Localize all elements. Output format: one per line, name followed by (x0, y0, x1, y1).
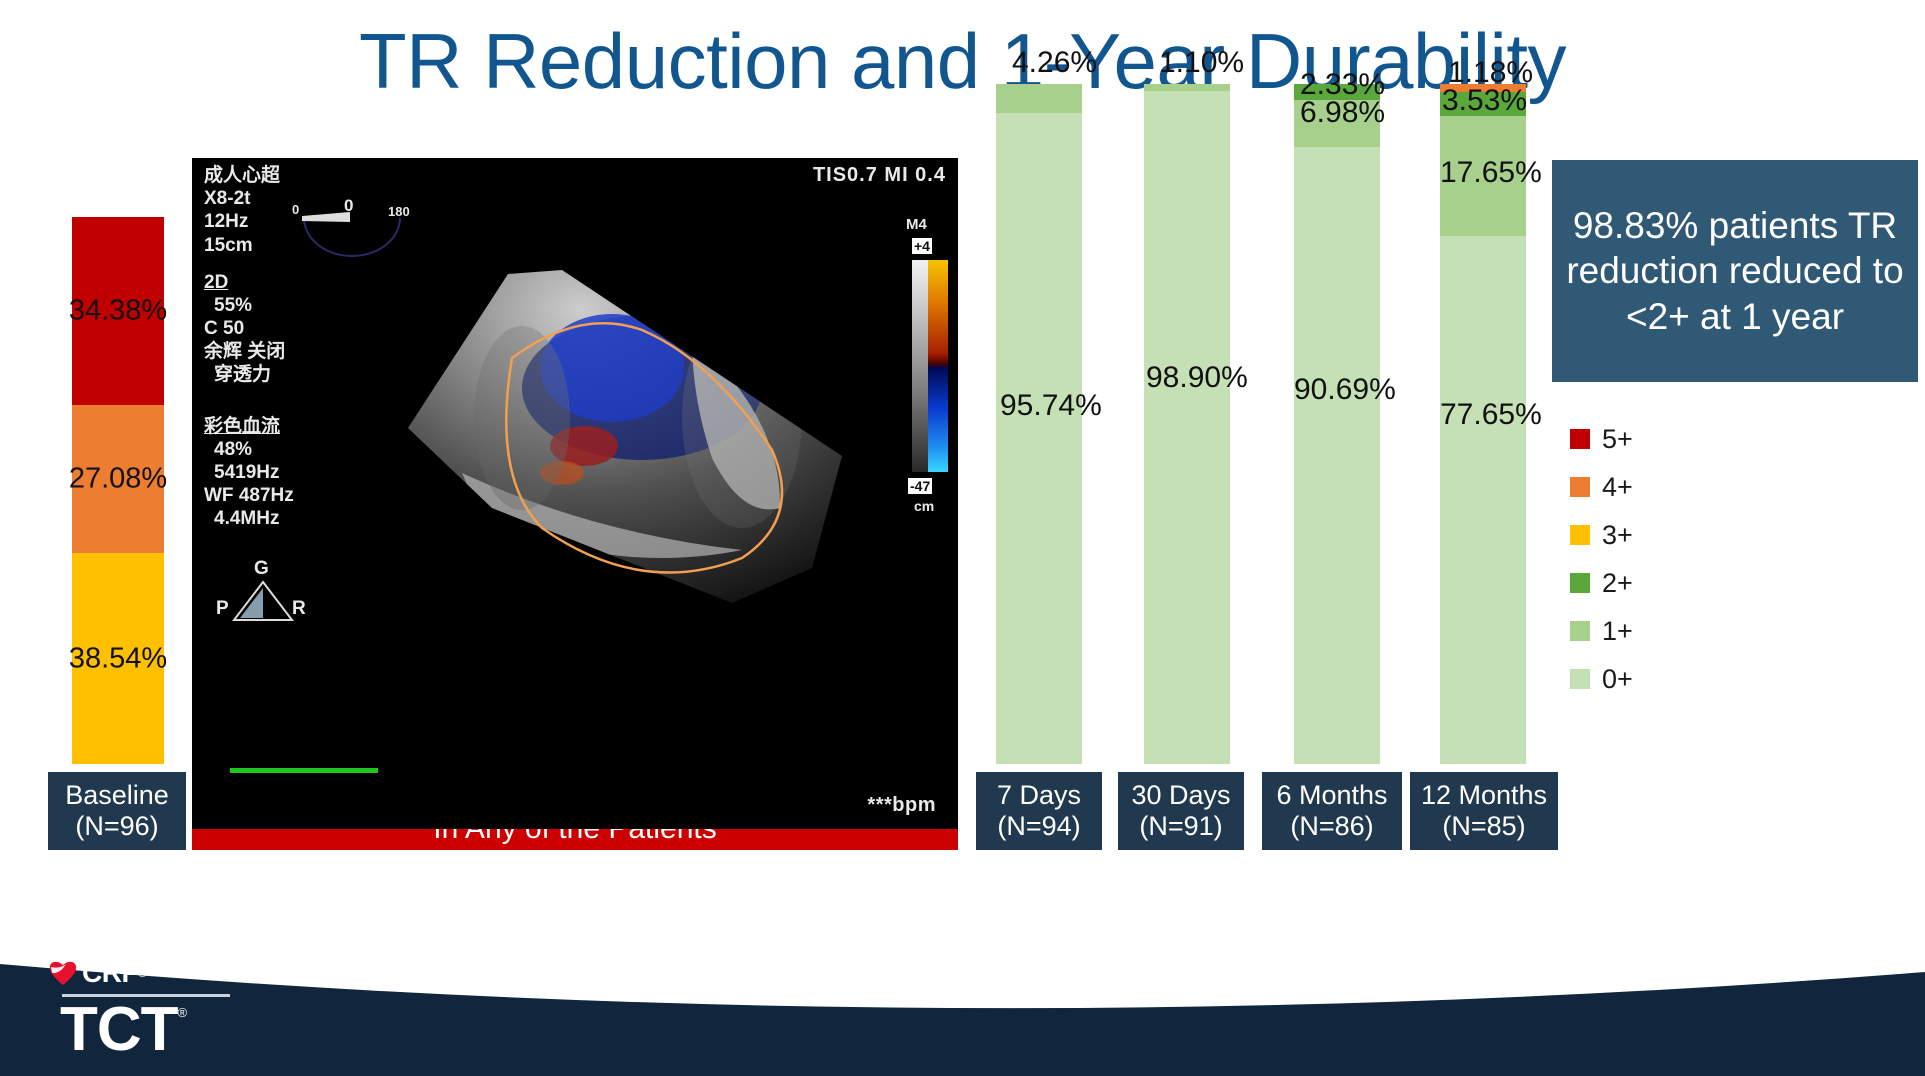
echo-scale-top-label: +4 (912, 238, 932, 254)
echo-scale-bottom-label: -47 (908, 478, 932, 494)
category-label-month6: 6 Months (N=86) (1262, 772, 1402, 850)
legend-swatch-icon (1570, 669, 1590, 689)
echo-tis-mi-label: TIS0.7 MI 0.4 (813, 164, 946, 187)
bar-segment-label: 77.65% (1440, 400, 1542, 430)
bar-stack-day30: 1.10% 98.90% (1144, 84, 1230, 764)
category-label-month12: 12 Months (N=85) (1410, 772, 1558, 850)
echo-scale-ramp (912, 260, 948, 472)
tct-logo-row: TCT ® (34, 999, 274, 1061)
bar-segment-0plus: 95.74% (996, 113, 1082, 764)
legend-item-2plus[interactable]: 2+ (1570, 559, 1790, 607)
category-label-line1: 30 Days (1131, 780, 1230, 811)
category-label-day30: 30 Days (N=91) (1118, 772, 1244, 850)
echo-heart-rate-label: ***bpm (867, 794, 936, 817)
legend-item-1plus[interactable]: 1+ (1570, 607, 1790, 655)
category-label-line2: (N=96) (75, 811, 158, 842)
echo-persistence-label: 余辉 关闭 (204, 340, 294, 363)
category-label-line2: (N=94) (997, 811, 1080, 842)
category-label-line2: (N=91) (1139, 811, 1222, 842)
category-label-day7: 7 Days (N=94) (976, 772, 1102, 850)
bar-stack-month12: 1.18% 3.53% 17.65% 77.65% (1440, 84, 1526, 764)
category-label-line1: 12 Months (1421, 780, 1547, 811)
orient-left-label: P (216, 598, 229, 620)
echo-scale-mode-label: M4 (906, 216, 927, 233)
legend-swatch-icon (1570, 429, 1590, 449)
crf-logo-row: CRF ® (34, 956, 274, 990)
bar-segment-label: 34.38% (69, 297, 167, 326)
legend-item-3plus[interactable]: 3+ (1570, 511, 1790, 559)
echo-color-frequency-label: 4.4MHz (204, 507, 294, 530)
legend-label: 3+ (1602, 520, 1633, 551)
echo-depth-label: 15cm (204, 234, 294, 257)
legend-swatch-icon (1570, 525, 1590, 545)
echo-prf-label: 5419Hz (204, 461, 294, 484)
category-label-line1: Baseline (65, 780, 169, 811)
legend-item-4plus[interactable]: 4+ (1570, 463, 1790, 511)
crf-registered-mark: ® (138, 966, 147, 980)
legend-label: 0+ (1602, 664, 1633, 695)
bar-segment-0plus: 98.90% (1144, 91, 1230, 764)
probe-arc-icon (292, 210, 410, 260)
legend-label: 1+ (1602, 616, 1633, 647)
echo-color-gain-label: 48% (204, 438, 294, 461)
echo-penetration-label: 穿透力 (204, 363, 294, 386)
crf-heart-icon (48, 960, 78, 986)
echo-sector-scan (312, 268, 852, 698)
bar-segment-label: 27.08% (69, 465, 167, 494)
bar-segment-1plus: 6.98% (1294, 100, 1380, 147)
bar-segment-1plus: 4.26% (996, 84, 1082, 113)
orient-triangle-icon (232, 580, 294, 622)
legend-item-0plus[interactable]: 0+ (1570, 655, 1790, 703)
bar-segment-0plus: 90.69% (1294, 147, 1380, 764)
echo-scale-gray-ramp (912, 260, 928, 472)
bar-stack-baseline: 34.38% 27.08% 38.54% (72, 217, 164, 764)
bar-segment-1plus: 1.10% (1144, 84, 1230, 91)
bar-segment-label: 6.98% (1300, 98, 1385, 128)
legend-label: 5+ (1602, 424, 1633, 455)
footer-curve-band (0, 936, 1925, 1076)
page-title: TR Reduction and 1-Year Durability (0, 16, 1925, 107)
bar-stack-day7: 4.26% 95.74% (996, 84, 1082, 764)
echo-frequency-label: 12Hz (204, 210, 294, 233)
crf-tct-logo: CRF ® TCT ® (34, 956, 274, 1056)
crf-wordmark: CRF (82, 957, 138, 989)
tct-registered-mark: ® (178, 1005, 188, 1020)
bar-segment-label: 3.53% (1442, 86, 1527, 116)
category-label-line1: 6 Months (1276, 780, 1387, 811)
bar-segment-label: 95.74% (1000, 391, 1102, 421)
bar-segment-5plus: 34.38% (72, 217, 164, 405)
legend-item-5plus[interactable]: 5+ (1570, 415, 1790, 463)
echo-ruler-line (230, 768, 378, 773)
slide-footer: CRF ® TCT ® (0, 936, 1925, 1076)
bar-segment-label: 98.90% (1146, 363, 1248, 393)
echocardiogram-image: TIS0.7 MI 0.4 成人心超 X8-2t 12Hz 15cm 2D 55… (192, 158, 958, 829)
echo-probe-label: X8-2t (204, 187, 294, 210)
bar-stack-month6: 2.33% 6.98% 90.69% (1294, 84, 1380, 764)
echo-wall-filter-label: WF 487Hz (204, 484, 294, 507)
echo-color-section-label: 彩色血流 (204, 415, 294, 438)
echo-scale-color-ramp (928, 260, 948, 472)
category-label-line2: (N=85) (1442, 811, 1525, 842)
bar-segment-1plus: 17.65% (1440, 116, 1526, 236)
echo-probe-orientation-icon: 0 0 180 (292, 194, 410, 258)
tct-wordmark: TCT (60, 999, 178, 1061)
orient-right-label: R (292, 598, 306, 620)
legend-swatch-icon (1570, 573, 1590, 593)
legend-swatch-icon (1570, 477, 1590, 497)
chart-legend: 5+ 4+ 3+ 2+ 1+ 0+ (1570, 415, 1790, 703)
bar-segment-label: 17.65% (1440, 158, 1542, 188)
bar-segment-label: 4.26% (1012, 48, 1097, 78)
echo-mode-label: 成人心超 (204, 164, 294, 187)
bar-segment-label: 90.69% (1294, 375, 1396, 405)
bar-segment-label: 1.10% (1159, 48, 1244, 78)
bar-segment-label: 38.54% (69, 644, 167, 673)
legend-swatch-icon (1570, 621, 1590, 641)
category-label-line1: 7 Days (997, 780, 1081, 811)
echo-2d-gain-label: 55% (204, 294, 294, 317)
legend-label: 2+ (1602, 568, 1633, 599)
category-label-line2: (N=86) (1290, 811, 1373, 842)
bar-segment-0plus: 77.65% (1440, 236, 1526, 764)
echo-scale-unit-label: cm (914, 498, 934, 514)
key-finding-callout: 98.83% patients TR reduction reduced to … (1552, 160, 1918, 382)
echo-compression-label: C 50 (204, 317, 294, 340)
category-label-baseline: Baseline (N=96) (48, 772, 186, 850)
bar-segment-2plus: 3.53% (1440, 92, 1526, 116)
echo-orientation-marker: G P R (216, 558, 308, 634)
bar-segment-3plus: 38.54% (72, 553, 164, 764)
legend-label: 4+ (1602, 472, 1633, 503)
echo-2d-section-label: 2D (204, 271, 294, 294)
orient-top-label: G (254, 558, 269, 580)
echo-parameter-overlay: 成人心超 X8-2t 12Hz 15cm 2D 55% C 50 余辉 关闭 穿… (204, 164, 294, 530)
bar-segment-4plus: 27.08% (72, 405, 164, 553)
